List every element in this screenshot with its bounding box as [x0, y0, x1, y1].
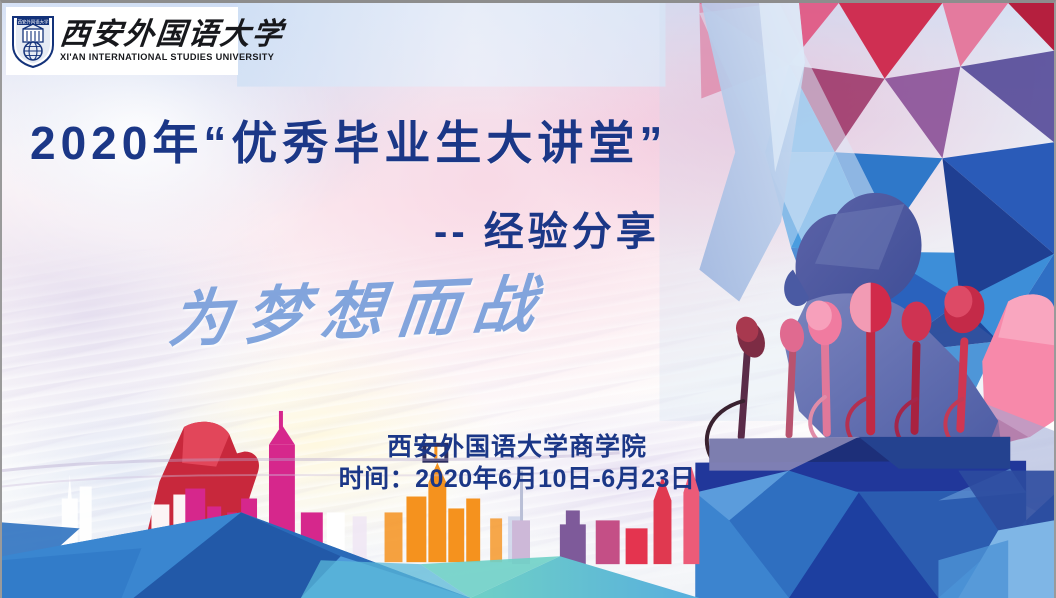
event-poster: 西安外国语大学 西安外国语大学 XI'AN INTERNATIONAL STUD…	[0, 0, 1056, 598]
poster-subtitle: -- 经验分享	[434, 199, 660, 257]
organizer-name: 西安外国语大学商学院	[2, 427, 1054, 463]
university-shield-crest-icon: 西安外国语大学	[10, 13, 56, 69]
event-time: 时间：2020年6月10日-6月23日	[2, 459, 1054, 495]
calligraphy-slogan: 为梦想而战	[165, 252, 555, 359]
event-time-text: 时间：2020年6月10日-6月23日	[339, 459, 696, 495]
logo-chinese-name: 西安外国语大学	[58, 20, 285, 50]
logo-english-name: XI'AN INTERNATIONAL STUDIES UNIVERSITY	[60, 53, 284, 62]
poster-title: 2020年“优秀毕业生大讲堂”	[30, 107, 667, 173]
university-logo: 西安外国语大学 西安外国语大学 XI'AN INTERNATIONAL STUD…	[6, 7, 238, 75]
organizer-text: 西安外国语大学商学院	[387, 427, 647, 463]
